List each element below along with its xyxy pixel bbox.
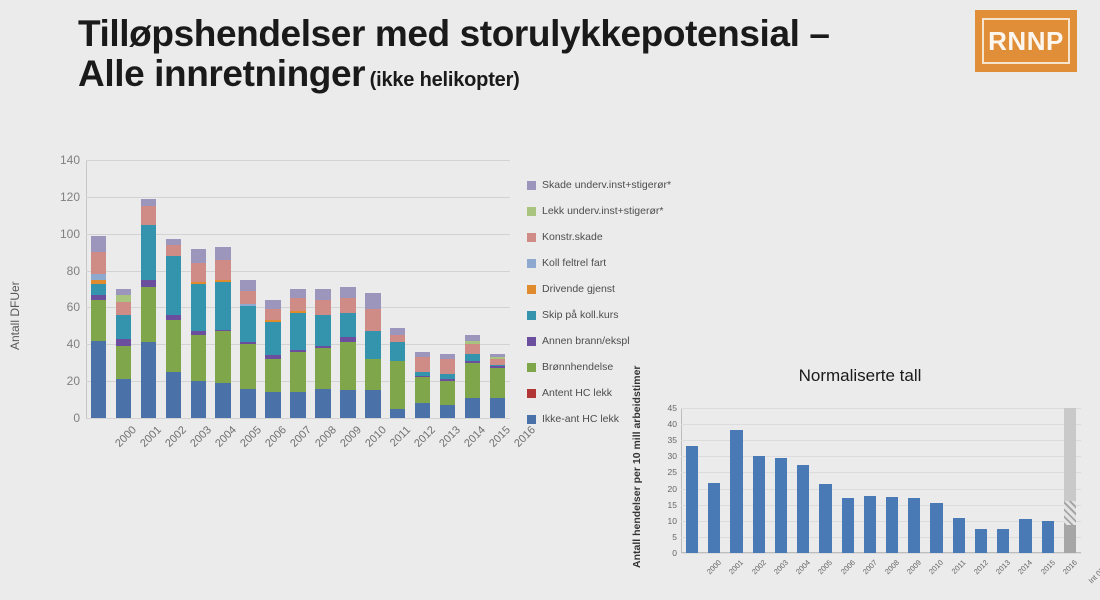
- bar-segment: [166, 256, 181, 315]
- main-chart-y-axis: [86, 160, 87, 418]
- title-note: (ikke helikopter): [370, 69, 520, 91]
- y-axis-tick-label: 25: [668, 467, 677, 477]
- x-axis-tick-label: 2004: [213, 424, 239, 450]
- legend-color-swatch: [527, 337, 536, 346]
- x-axis-tick-label: 2006: [263, 424, 289, 450]
- title-line-1: Tilløpshendelser med storulykkepotensial…: [78, 14, 968, 54]
- legend-color-swatch: [527, 207, 536, 216]
- x-axis-tick-label: 2003: [772, 558, 790, 576]
- legend-item[interactable]: Lekk underv.inst+stigerør*: [527, 198, 707, 224]
- stacked-bar: [91, 236, 106, 418]
- stacked-bar: [116, 289, 131, 418]
- x-axis-tick-label: 2004: [794, 558, 812, 576]
- bar-segment: [215, 282, 230, 330]
- inset-bar: [930, 503, 942, 553]
- legend-item-label: Koll feltrel fart: [542, 257, 606, 269]
- x-axis-tick-label: 2006: [838, 558, 856, 576]
- inset-bar: [908, 498, 920, 553]
- bar-segment: [465, 354, 480, 361]
- bar-segment: [265, 392, 280, 418]
- legend-item-label: Lekk underv.inst+stigerør*: [542, 205, 663, 217]
- x-axis-tick-label: 2010: [927, 558, 945, 576]
- x-axis-tick-label: 2012: [972, 558, 990, 576]
- bar-segment: [465, 398, 480, 418]
- bar-segment: [265, 300, 280, 309]
- bar-segment: [390, 409, 405, 418]
- x-axis-tick-label: 2013: [994, 558, 1012, 576]
- x-axis-tick-label: 2007: [861, 558, 879, 576]
- stacked-bar: [340, 287, 355, 418]
- title-line2: Alle innretninger: [78, 53, 365, 94]
- bar-segment: [290, 298, 305, 311]
- bar-segment: [116, 339, 131, 346]
- legend-item[interactable]: Skade underv.inst+stigerør*: [527, 172, 707, 198]
- bar-segment: [465, 344, 480, 353]
- x-axis-tick-label: 2003: [188, 424, 214, 450]
- bar-segment: [215, 331, 230, 383]
- bar-segment: [116, 315, 131, 339]
- legend-color-swatch: [527, 389, 536, 398]
- inset-bar: [953, 518, 965, 553]
- bar-segment: [390, 328, 405, 335]
- gridline: [86, 160, 510, 161]
- bar-segment: [415, 357, 430, 372]
- inset-bar: [886, 497, 898, 553]
- bar-segment: [215, 260, 230, 280]
- inset-bar: [842, 498, 854, 553]
- bar-segment: [340, 287, 355, 298]
- bar-segment: [191, 263, 206, 281]
- stacked-bar: [191, 249, 206, 418]
- inset-bar: [775, 458, 787, 553]
- bar-segment: [240, 389, 255, 418]
- bar-segment: [440, 359, 455, 374]
- legend-color-swatch: [527, 285, 536, 294]
- x-axis-tick-label: 2000: [113, 424, 139, 450]
- legend-color-swatch: [527, 181, 536, 190]
- bar-segment: [166, 245, 181, 256]
- bar-segment: [141, 206, 156, 224]
- legend-color-swatch: [527, 311, 536, 320]
- reference-bar-hatch: [1064, 501, 1076, 524]
- inset-bar: [753, 456, 765, 553]
- bar-segment: [390, 342, 405, 360]
- x-axis-tick-label: 2009: [338, 424, 364, 450]
- y-axis-tick-label: 10: [668, 516, 677, 526]
- x-axis-tick-label: 2007: [288, 424, 314, 450]
- bar-segment: [116, 379, 131, 418]
- x-axis-tick-label: 2011: [949, 558, 967, 576]
- legend-item-label: Drivende gjenst: [542, 283, 615, 295]
- legend-item-label: Skade underv.inst+stigerør*: [542, 179, 671, 191]
- y-axis-tick-label: 20: [67, 374, 80, 388]
- inset-bar: [819, 484, 831, 553]
- title-line-2: Alle innretninger (ikke helikopter): [78, 54, 968, 94]
- bar-segment: [265, 359, 280, 392]
- stacked-bar: [440, 354, 455, 418]
- bar-segment: [315, 289, 330, 300]
- stacked-bar: [390, 328, 405, 418]
- legend-item[interactable]: Koll feltrel fart: [527, 250, 707, 276]
- y-axis-tick-label: 5: [672, 532, 677, 542]
- gridline: [681, 553, 1081, 554]
- inset-chart-y-axis-label: Antall hendelser per 10 mill arbeidstime…: [631, 366, 643, 569]
- bar-segment: [490, 398, 505, 418]
- stacked-bar: [240, 280, 255, 418]
- bar-segment: [215, 247, 230, 260]
- x-axis-tick-label: 2015: [487, 424, 513, 450]
- stacked-bar: [215, 247, 230, 418]
- bar-segment: [315, 315, 330, 346]
- bar-segment: [290, 392, 305, 418]
- bar-segment: [166, 320, 181, 372]
- x-axis-tick-label: 2010: [363, 424, 389, 450]
- legend-item[interactable]: Annen brann/ekspl: [527, 328, 707, 354]
- bar-segment: [340, 298, 355, 313]
- x-axis-tick-label: 2013: [438, 424, 464, 450]
- x-axis-tick-label: 2005: [238, 424, 264, 450]
- bar-segment: [240, 280, 255, 291]
- gridline: [681, 424, 1081, 425]
- bar-segment: [141, 342, 156, 418]
- y-axis-tick-label: 40: [67, 337, 80, 351]
- bar-segment: [166, 372, 181, 418]
- inset-bar: [730, 430, 742, 553]
- inset-chart-plot-area: 051015202530354045 200020012002200320042…: [681, 408, 1081, 553]
- legend-color-swatch: [527, 259, 536, 268]
- inset-chart: Normaliserte tall Antall hendelser per 1…: [625, 360, 1095, 598]
- stacked-bar: [415, 352, 430, 418]
- reference-bar: [1064, 408, 1076, 553]
- bar-segment: [315, 300, 330, 315]
- bar-segment: [240, 291, 255, 304]
- x-axis-tick-label: 2015: [1038, 558, 1056, 576]
- bar-segment: [116, 295, 131, 302]
- x-axis-tick-label: 2008: [883, 558, 901, 576]
- bar-segment: [365, 293, 380, 310]
- legend-item-label: Antent HC lekk: [542, 387, 612, 399]
- title-bold: Tilløpshendelser: [78, 13, 365, 54]
- bar-segment: [290, 289, 305, 298]
- page-title: Tilløpshendelser med storulykkepotensial…: [78, 14, 968, 94]
- bar-segment: [215, 383, 230, 418]
- bar-segment: [191, 284, 206, 332]
- legend-color-swatch: [527, 233, 536, 242]
- bar-segment: [116, 346, 131, 379]
- bar-segment: [490, 368, 505, 397]
- inset-bar: [1019, 519, 1031, 553]
- bar-segment: [440, 381, 455, 405]
- y-axis-tick-label: 30: [668, 451, 677, 461]
- bar-segment: [290, 313, 305, 350]
- x-axis-tick-label: 2005: [816, 558, 834, 576]
- main-chart: Antall DFUer 020406080100120140 20002001…: [14, 150, 524, 450]
- x-axis-tick-label: 2014: [1016, 558, 1034, 576]
- bar-segment: [415, 403, 430, 418]
- gridline: [86, 418, 510, 419]
- bar-segment: [191, 381, 206, 418]
- inset-bar: [686, 446, 698, 553]
- legend-color-swatch: [527, 415, 536, 424]
- bar-segment: [365, 390, 380, 418]
- bar-segment: [91, 252, 106, 274]
- logo-text: RNNP: [988, 26, 1064, 57]
- x-axis-tick-label: 2001: [727, 558, 745, 576]
- y-axis-tick-label: 120: [60, 190, 80, 204]
- main-chart-y-axis-label: Antall DFUer: [8, 281, 22, 350]
- stacked-bar: [315, 289, 330, 418]
- bar-segment: [365, 309, 380, 331]
- bar-segment: [340, 313, 355, 337]
- y-axis-tick-label: 140: [60, 153, 80, 167]
- y-axis-tick-label: 100: [60, 227, 80, 241]
- bar-segment: [265, 309, 280, 320]
- bar-segment: [141, 225, 156, 280]
- stacked-bar: [365, 293, 380, 418]
- reference-bar-upper: [1064, 408, 1076, 501]
- x-axis-tick-label: 2002: [163, 424, 189, 450]
- rnnp-logo: RNNP: [975, 10, 1077, 72]
- y-axis-tick-label: 80: [67, 264, 80, 278]
- bar-segment: [440, 405, 455, 418]
- title-rest: med storulykkepotensial –: [365, 13, 830, 54]
- bar-segment: [390, 361, 405, 409]
- bar-segment: [240, 306, 255, 343]
- x-axis-tick-label: 2002: [750, 558, 768, 576]
- y-axis-tick-label: 20: [668, 484, 677, 494]
- inset-bar: [797, 465, 809, 553]
- legend-item-label: Annen brann/ekspl: [542, 335, 630, 347]
- bar-segment: [91, 284, 106, 295]
- stacked-bar: [141, 199, 156, 418]
- inset-bar: [1042, 521, 1054, 553]
- bar-segment: [265, 322, 280, 355]
- bar-segment: [91, 341, 106, 418]
- legend-item-label: Ikke-ant HC lekk: [542, 413, 619, 425]
- inset-bar: [997, 529, 1009, 553]
- x-axis-tick-label: 2008: [313, 424, 339, 450]
- bar-segment: [141, 280, 156, 287]
- x-axis-tick-label: 2016: [1061, 558, 1079, 576]
- y-axis-tick-label: 0: [73, 411, 80, 425]
- legend-item-label: Skip på koll.kurs: [542, 309, 618, 321]
- bar-segment: [290, 352, 305, 393]
- stacked-bar: [166, 239, 181, 418]
- x-axis-tick-label: 2001: [138, 424, 164, 450]
- legend-item[interactable]: Konstr.skade: [527, 224, 707, 250]
- bar-segment: [116, 302, 131, 315]
- x-axis-tick-label: 2000: [705, 558, 723, 576]
- legend-item[interactable]: Skip på koll.kurs: [527, 302, 707, 328]
- bar-segment: [340, 390, 355, 418]
- bar-segment: [240, 344, 255, 388]
- y-axis-tick-label: 0: [672, 548, 677, 558]
- stacked-bar: [490, 354, 505, 418]
- x-axis-tick-label: 2014: [463, 424, 489, 450]
- bar-segment: [465, 363, 480, 398]
- bar-segment: [91, 236, 106, 253]
- inset-bar: [975, 529, 987, 553]
- bar-segment: [365, 359, 380, 390]
- legend-color-swatch: [527, 363, 536, 372]
- x-axis-tick-label: Int 07-15: [1087, 558, 1100, 585]
- y-axis-tick-label: 60: [67, 300, 80, 314]
- bar-segment: [365, 331, 380, 359]
- bar-segment: [390, 335, 405, 342]
- y-axis-tick-label: 15: [668, 500, 677, 510]
- y-axis-tick-label: 35: [668, 435, 677, 445]
- main-chart-plot-area: 020406080100120140 200020012002200320042…: [86, 160, 510, 418]
- bar-segment: [141, 199, 156, 206]
- gridline: [86, 197, 510, 198]
- y-axis-tick-label: 45: [668, 403, 677, 413]
- bar-segment: [91, 300, 106, 341]
- logo-frame: RNNP: [982, 18, 1070, 64]
- bar-segment: [315, 348, 330, 389]
- inset-chart-title: Normaliserte tall: [625, 366, 1095, 386]
- x-axis-tick-label: 2011: [387, 424, 412, 449]
- gridline: [681, 408, 1081, 409]
- stacked-bar: [265, 300, 280, 418]
- x-axis-tick-label: 2012: [413, 424, 439, 450]
- y-axis-tick-label: 40: [668, 419, 677, 429]
- inset-bar: [708, 483, 720, 553]
- inset-chart-y-axis: [681, 408, 682, 553]
- bar-segment: [191, 249, 206, 264]
- bar-segment: [415, 377, 430, 403]
- stacked-bar: [465, 335, 480, 418]
- header: Tilløpshendelser med storulykkepotensial…: [0, 0, 1100, 122]
- x-axis-tick-label: 2009: [905, 558, 923, 576]
- bar-segment: [141, 287, 156, 342]
- legend-item-label: Brønnhendelse: [542, 361, 613, 373]
- bar-segment: [191, 335, 206, 381]
- legend-item-label: Konstr.skade: [542, 231, 603, 243]
- inset-bar: [864, 496, 876, 553]
- legend-item[interactable]: Drivende gjenst: [527, 276, 707, 302]
- bar-segment: [340, 342, 355, 390]
- stacked-bar: [290, 289, 305, 418]
- bar-segment: [315, 389, 330, 418]
